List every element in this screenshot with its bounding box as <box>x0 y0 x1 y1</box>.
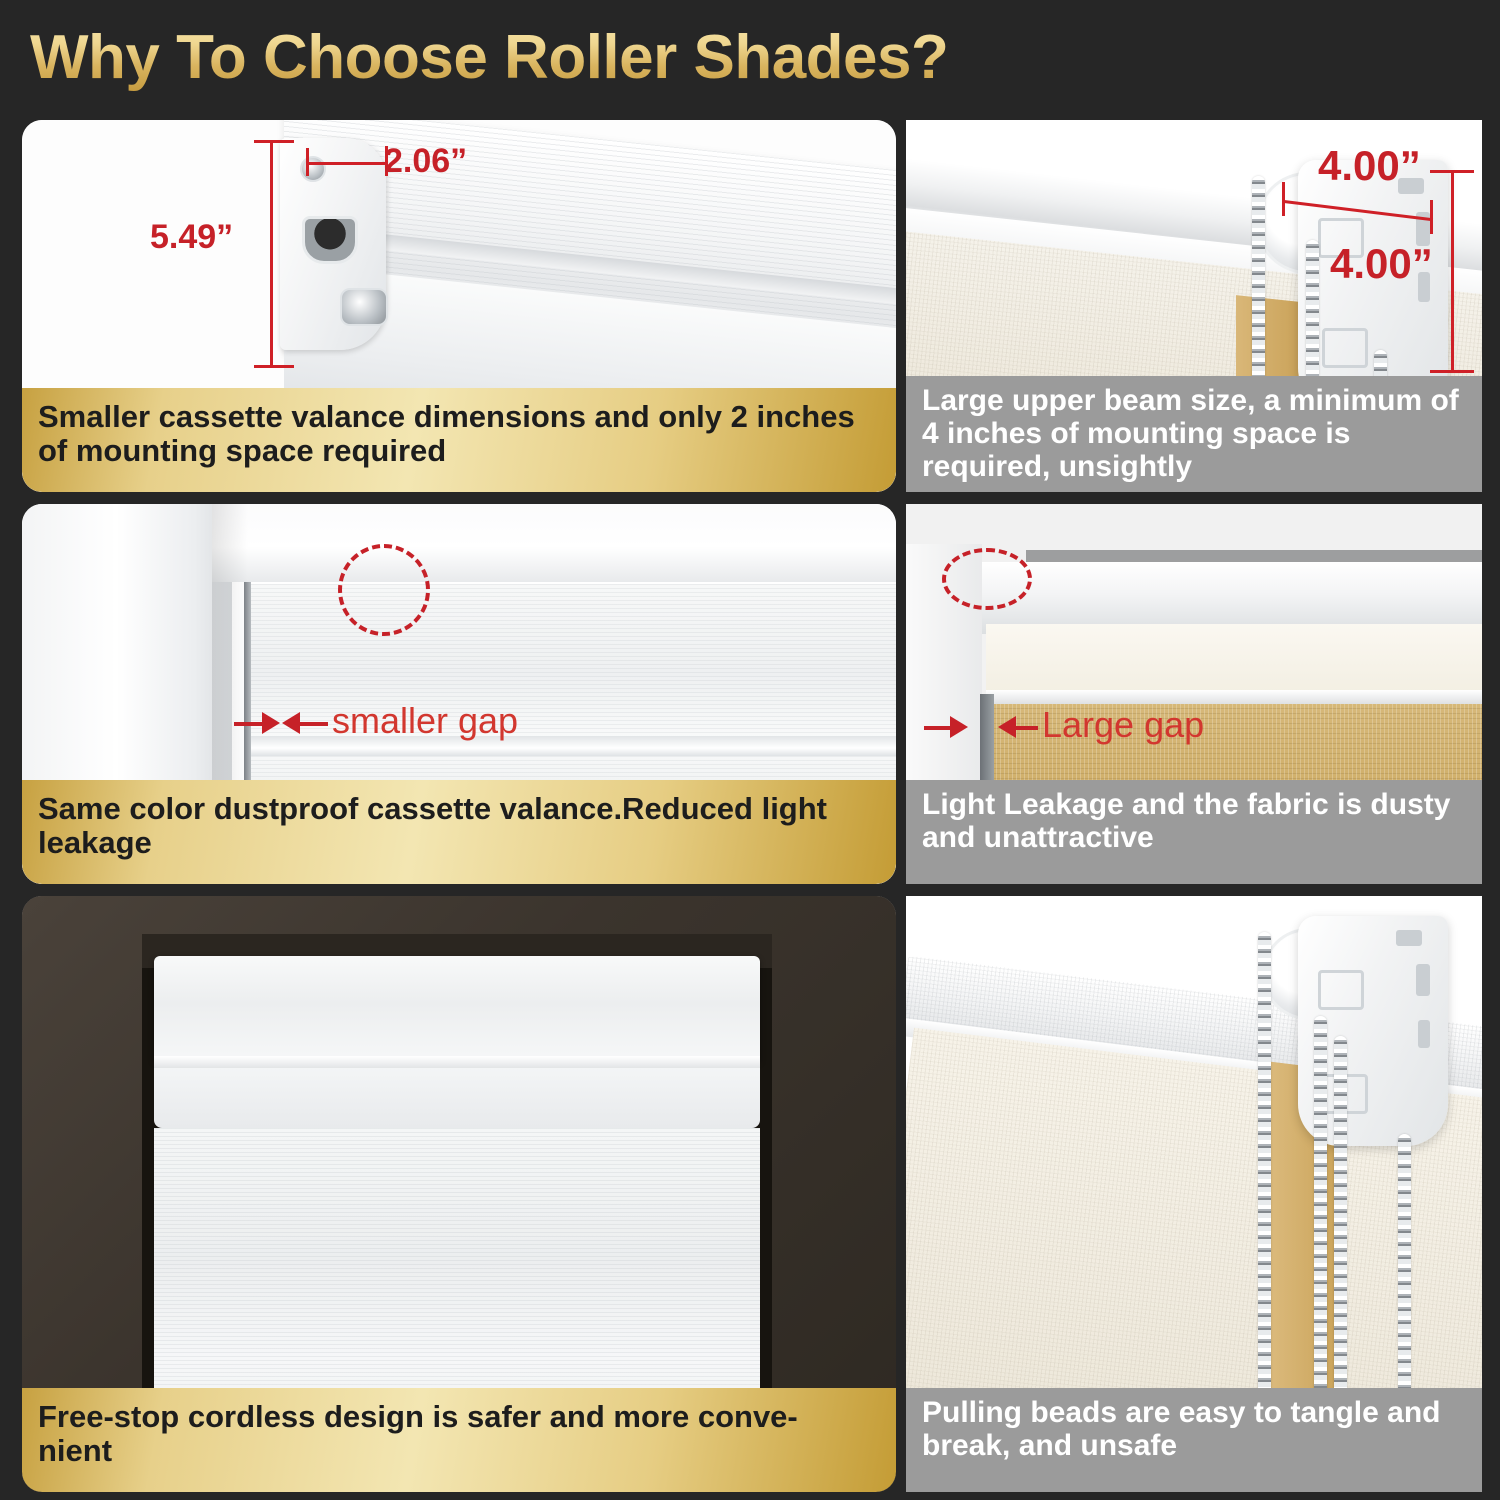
panel-pulling-beads[interactable]: Pulling beads are easy to tangle and bre… <box>906 896 1482 1492</box>
gap-arrow-right-head-icon <box>998 716 1016 738</box>
header-bar: Why To Choose Roller Shades? <box>0 0 1500 112</box>
bracket-height-tick-bottom <box>1430 370 1474 373</box>
panel-5-caption-line-1: Free-stop cordless design is safer and m… <box>38 1399 798 1434</box>
panel-large-gap[interactable]: Large gap Light Leakage and the fabric i… <box>906 504 1482 884</box>
bracket-width-tick-left <box>1282 182 1285 216</box>
panel-6-bracket-notch-1-icon <box>1396 930 1422 946</box>
bracket-height-tick-top <box>1430 170 1474 173</box>
valance-end-cap <box>280 138 386 350</box>
panel-5-caption: Free-stop cordless design is safer and m… <box>22 1388 896 1492</box>
width-dimension-line <box>308 162 388 165</box>
bracket-width-tick-right <box>1430 200 1433 234</box>
highlight-circle-icon <box>338 544 430 636</box>
panel-1-caption: Smaller cassette valance dimensions and … <box>22 388 896 492</box>
end-cap-screw-top-icon <box>300 156 326 182</box>
end-cap-screw-bottom-icon <box>340 288 388 326</box>
highlight-circle-icon <box>942 548 1032 610</box>
bracket-height-dimension-line <box>1451 172 1454 372</box>
height-dimension-line <box>270 142 273 368</box>
panel-6-bracket-arrow-icon <box>1318 970 1364 1010</box>
height-dimension-tick-top <box>254 140 294 143</box>
panel-6-bracket-notch-2-icon <box>1416 964 1430 996</box>
shade-cassette-head <box>154 956 760 1061</box>
panel-2-caption: Large upper beam size, a minimum of 4 in… <box>906 376 1482 492</box>
height-dimension-tick-bottom <box>254 365 294 368</box>
panel-3-caption: Same color dustproof cassette valance.Re… <box>22 780 896 884</box>
comparison-grid: 5.49” 2.06” Smaller cassette valance dim… <box>0 112 1500 1500</box>
gap-arrow-right-head-icon <box>282 712 300 734</box>
panel-4-valance <box>986 624 1482 692</box>
panel-smaller-gap[interactable]: smaller gap Same color dustproof cassett… <box>22 504 896 884</box>
bracket-width-label: 4.00” <box>1318 142 1421 190</box>
bead-chain-1 <box>1258 932 1271 1452</box>
panel-6-caption: Pulling beads are easy to tangle and bre… <box>906 1388 1482 1492</box>
end-cap-roller-slot-icon <box>302 216 358 264</box>
panel-cordless-design[interactable]: Free-stop cordless design is safer and m… <box>22 896 896 1492</box>
window-frame-top <box>212 504 896 582</box>
panel-large-upper-beam[interactable]: 4.00” 4.00” Large upper beam size, a min… <box>906 120 1482 492</box>
gap-arrow-left-head-icon <box>950 716 968 738</box>
panel-4-caption: Light Leakage and the fabric is dusty an… <box>906 780 1482 884</box>
panel-smaller-cassette[interactable]: 5.49” 2.06” Smaller cassette valance dim… <box>22 120 896 492</box>
panel-6-bracket-notch-3-icon <box>1418 1020 1430 1048</box>
bracket-height-label: 4.00” <box>1330 240 1433 288</box>
panel-5-caption-line-2: nient <box>38 1433 112 1468</box>
width-dimension-label: 2.06” <box>384 142 467 181</box>
height-dimension-label: 5.49” <box>150 218 233 257</box>
gap-arrow-left-head-icon <box>262 712 280 734</box>
smaller-gap-label: smaller gap <box>332 700 518 742</box>
bracket-arrow-mark-2-icon <box>1322 328 1368 368</box>
width-dimension-tick-left <box>306 148 309 176</box>
panel-4-lip <box>986 690 1482 704</box>
page-title: Why To Choose Roller Shades? <box>30 22 948 93</box>
shade-head-lower <box>154 1068 760 1128</box>
large-gap-label: Large gap <box>1042 704 1204 746</box>
